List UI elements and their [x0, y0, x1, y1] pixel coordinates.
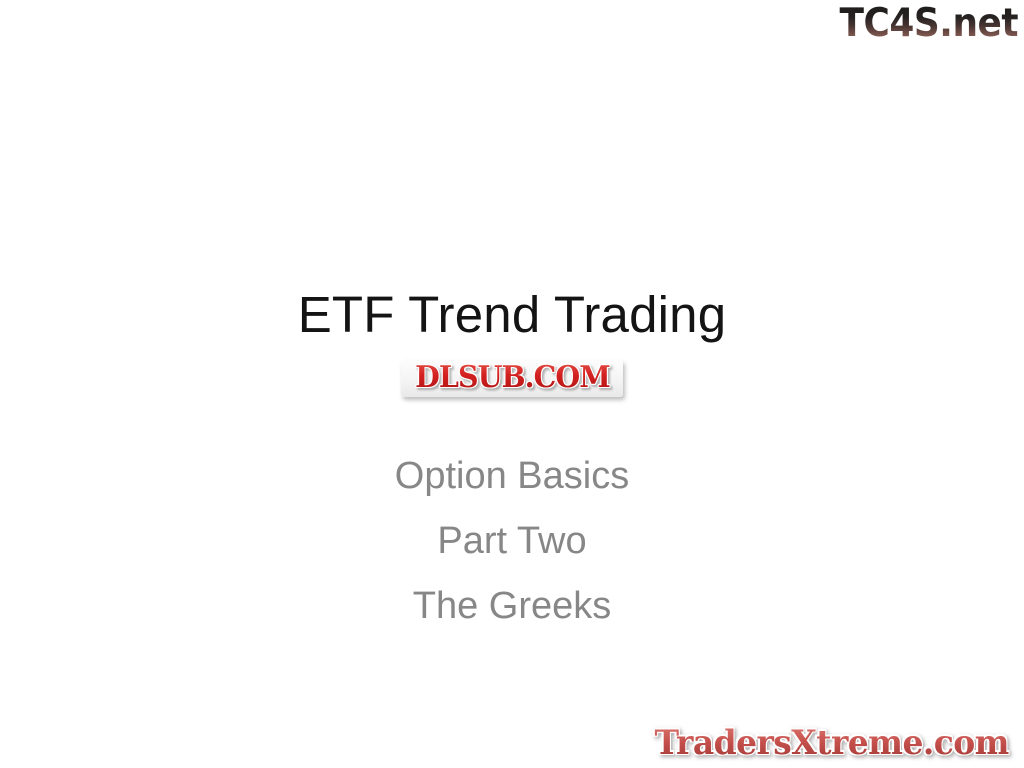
slide-subtitle: Option Basics Part Two The Greeks [0, 444, 1024, 639]
watermark-dlsub: DLSUB.COM [0, 360, 1024, 397]
subtitle-line-1: Option Basics [0, 444, 1024, 509]
watermark-tc4s: TC4S.net [824, 0, 1018, 46]
slide-title: ETF Trend Trading [0, 289, 1024, 340]
watermark-dlsub-plate: DLSUB.COM [401, 360, 624, 397]
watermark-tc4s-text: TC4S.net [839, 4, 1018, 43]
presentation-slide: TC4S.net ETF Trend Trading DLSUB.COM Opt… [0, 0, 1024, 768]
watermark-tradersxtreme: TradersXtreme.com [649, 726, 1014, 760]
subtitle-line-3: The Greeks [0, 574, 1024, 639]
subtitle-line-2: Part Two [0, 509, 1024, 574]
watermark-tradersxtreme-text: TradersXtreme.com [654, 726, 1009, 760]
watermark-dlsub-text: DLSUB.COM [415, 363, 610, 393]
